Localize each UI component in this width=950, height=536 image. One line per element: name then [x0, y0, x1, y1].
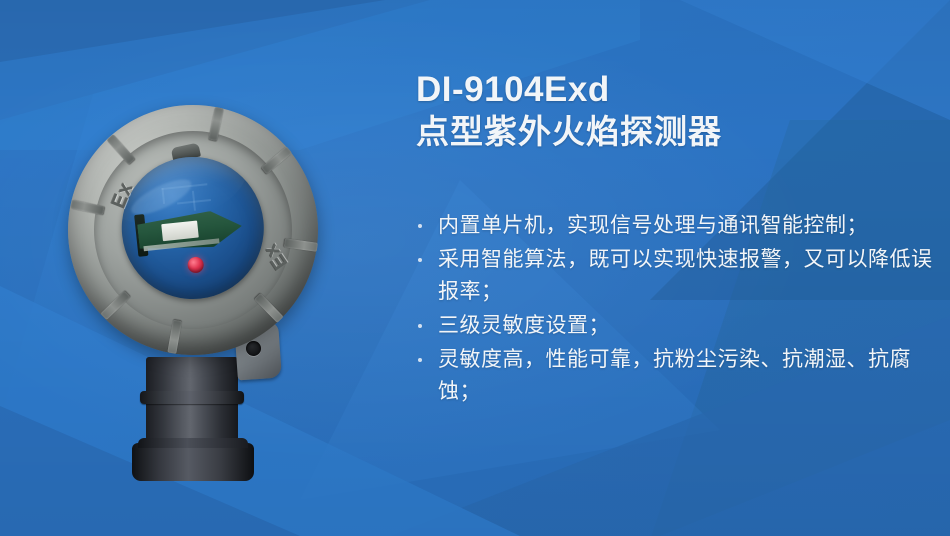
product-bezel-ridge: [254, 293, 283, 323]
product-info-panel: DI-9104Exd 点型紫外火焰探测器 内置单片机，实现信号处理与通讯智能控制…: [416, 70, 936, 410]
feature-item: 三级灵敏度设置；: [416, 310, 936, 342]
product-housing: Ex Ex: [56, 93, 331, 368]
product-name-subtitle: 点型紫外火焰探测器: [416, 113, 936, 151]
product-model-title: DI-9104Exd: [416, 70, 936, 109]
feature-item: 内置单片机，实现信号处理与通讯智能控制；: [416, 210, 936, 242]
product-base-flange: [132, 443, 254, 481]
product-led-indicator: [187, 256, 205, 274]
feature-list: 内置单片机，实现信号处理与通讯智能控制； 采用智能算法，既可以实现快速报警，又可…: [416, 210, 936, 407]
product-bolt-hole: [246, 341, 261, 356]
product-slide: Ex Ex DI-9104Exd 点型紫外火焰探测器 内置单片机，实现信号处理与…: [0, 0, 950, 536]
product-bezel-ridge: [106, 134, 135, 165]
feature-item: 灵敏度高，性能可靠，抗粉尘污染、抗潮湿、抗腐蚀；: [416, 344, 936, 408]
product-stem-ring: [140, 391, 244, 404]
feature-item: 采用智能算法，既可以实现快速报警，又可以降低误报率；: [416, 244, 936, 308]
product-bezel-ridge: [261, 146, 292, 174]
product-image: Ex Ex: [50, 95, 350, 495]
product-bezel-ridge: [100, 291, 130, 320]
